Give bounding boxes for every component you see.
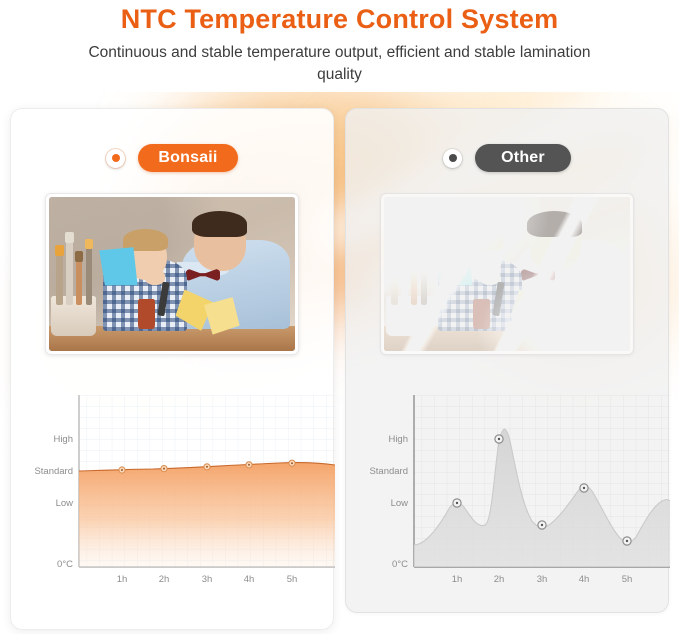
svg-text:0°C: 0°C bbox=[57, 559, 73, 570]
svg-text:Standard: Standard bbox=[369, 466, 408, 477]
svg-text:4h: 4h bbox=[244, 574, 255, 585]
bonsaii-badge-label: Bonsaii bbox=[138, 144, 237, 172]
bonsaii-chart: High Standard Low 0°C bbox=[11, 395, 335, 595]
svg-text:High: High bbox=[388, 434, 408, 445]
wrinkle-overlay bbox=[384, 197, 630, 351]
comparison-section: Bonsaii bbox=[0, 108, 679, 634]
svg-text:Standard: Standard bbox=[34, 466, 73, 477]
bonsaii-photo bbox=[49, 197, 295, 351]
svg-text:0°C: 0°C bbox=[392, 559, 408, 570]
svg-text:High: High bbox=[53, 434, 73, 445]
other-chart: High Standard Low 0°C bbox=[346, 395, 670, 595]
page-header: NTC Temperature Control System Continuou… bbox=[0, 0, 679, 86]
svg-text:2h: 2h bbox=[159, 574, 170, 585]
svg-text:Low: Low bbox=[56, 498, 74, 509]
bonsaii-photo-frame bbox=[45, 193, 299, 355]
other-badge-label: Other bbox=[475, 144, 571, 172]
other-badge-row: Other bbox=[346, 129, 668, 187]
svg-text:4h: 4h bbox=[579, 574, 590, 585]
other-photo-frame bbox=[380, 193, 634, 355]
svg-text:1h: 1h bbox=[452, 574, 463, 585]
other-card[interactable]: Other bbox=[345, 108, 669, 613]
radio-dot-icon bbox=[449, 154, 457, 162]
bonsaii-badge-row: Bonsaii bbox=[11, 129, 333, 187]
other-y-tick-labels: High Standard Low 0°C bbox=[369, 434, 408, 570]
page-title: NTC Temperature Control System bbox=[0, 2, 679, 36]
bonsaii-y-tick-labels: High Standard Low 0°C bbox=[34, 434, 73, 570]
svg-text:5h: 5h bbox=[622, 574, 633, 585]
svg-text:1h: 1h bbox=[117, 574, 128, 585]
radio-dot-icon bbox=[112, 154, 120, 162]
bonsaii-x-tick-labels: 1h 2h 3h 4h 5h bbox=[117, 574, 298, 585]
svg-text:2h: 2h bbox=[494, 574, 505, 585]
svg-text:3h: 3h bbox=[537, 574, 548, 585]
other-chart-svg: High Standard Low 0°C bbox=[346, 395, 670, 595]
other-x-tick-labels: 1h 2h 3h 4h 5h bbox=[452, 574, 633, 585]
bonsaii-chart-svg: High Standard Low 0°C bbox=[11, 395, 335, 595]
svg-text:Low: Low bbox=[391, 498, 409, 509]
bonsaii-card[interactable]: Bonsaii bbox=[10, 108, 334, 630]
bonsaii-radio-button[interactable] bbox=[106, 149, 125, 168]
page-subtitle: Continuous and stable temperature output… bbox=[80, 42, 600, 86]
other-photo bbox=[384, 197, 630, 351]
other-radio-button[interactable] bbox=[443, 149, 462, 168]
svg-text:5h: 5h bbox=[287, 574, 298, 585]
svg-text:3h: 3h bbox=[202, 574, 213, 585]
